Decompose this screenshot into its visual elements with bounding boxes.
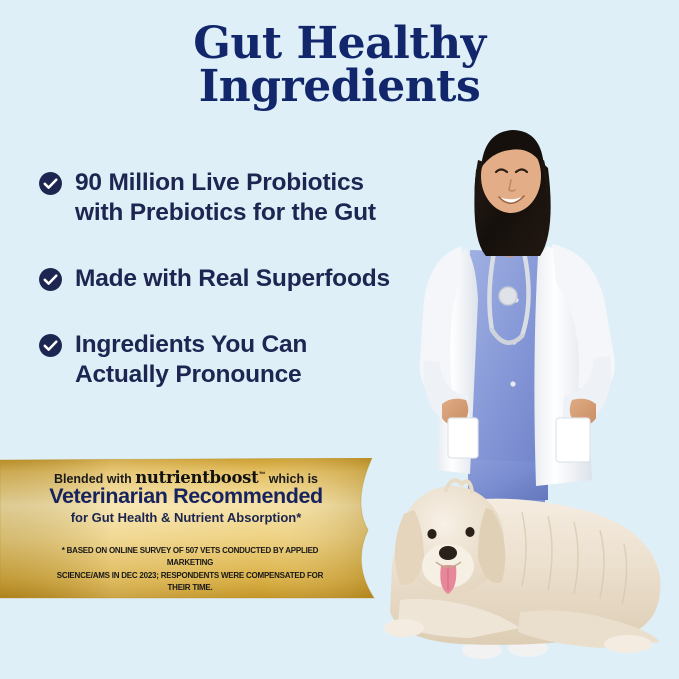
promo-image: Gut Healthy Ingredients 90 Million Live … xyxy=(0,0,679,679)
ribbon-disclaimer: * BASED ON ONLINE SURVEY OF 507 VETS CON… xyxy=(45,544,335,594)
page-title: Gut Healthy Ingredients xyxy=(0,22,679,108)
list-item-line-1: Made with Real Superfoods xyxy=(75,264,390,294)
list-item: 90 Million Live Probiotics with Prebioti… xyxy=(38,168,458,228)
check-circle-icon xyxy=(38,267,63,292)
ribbon-subline: for Gut Health & Nutrient Absorption* xyxy=(0,510,372,525)
disclaimer-line-2: SCIENCE/AMS IN DEC 2023; RESPONDENTS WER… xyxy=(45,569,335,594)
list-item-text: Made with Real Superfoods xyxy=(75,264,390,294)
list-item: Made with Real Superfoods xyxy=(38,264,458,294)
vet-recommended-ribbon: Blended with nutrientboost™ which is Vet… xyxy=(0,458,400,600)
list-item-line-2: Actually Pronounce xyxy=(75,360,307,390)
ribbon-copy: Blended with nutrientboost™ which is Vet… xyxy=(0,458,372,600)
list-item-text: Ingredients You Can Actually Pronounce xyxy=(75,330,307,390)
disclaimer-line-1: * BASED ON ONLINE SURVEY OF 507 VETS CON… xyxy=(45,544,335,569)
check-circle-icon xyxy=(38,171,63,196)
check-circle-icon xyxy=(38,333,63,358)
list-item-text: 90 Million Live Probiotics with Prebioti… xyxy=(75,168,376,228)
ribbon-headline: Veterinarian Recommended xyxy=(0,484,372,509)
list-item-line-1: Ingredients You Can xyxy=(75,330,307,360)
dog-figure xyxy=(384,480,660,653)
list-item: Ingredients You Can Actually Pronounce xyxy=(38,330,458,390)
list-item-line-1: 90 Million Live Probiotics xyxy=(75,168,376,198)
trademark-symbol: ™ xyxy=(259,472,266,479)
title-line-2: Ingredients xyxy=(0,65,679,108)
list-item-line-2: with Prebiotics for the Gut xyxy=(75,198,376,228)
benefits-list: 90 Million Live Probiotics with Prebioti… xyxy=(38,168,458,415)
